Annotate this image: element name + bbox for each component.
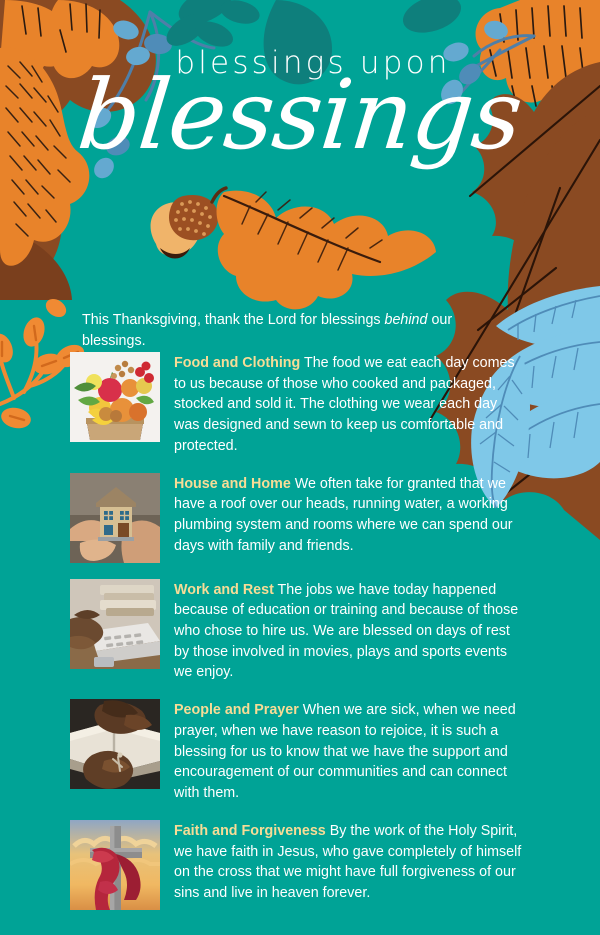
hands-typing-laptop-photo: [70, 579, 160, 669]
list-item-heading: Work and Rest: [174, 582, 274, 598]
list-item: Faith and Forgiveness By the work of the…: [70, 820, 522, 910]
title-script-line: blessings: [0, 71, 600, 159]
list-item-heading: Faith and Forgiveness: [174, 823, 326, 839]
list-item: Work and Rest The jobs we have today hap…: [70, 579, 522, 684]
list-item: People and Prayer When we are sick, when…: [70, 699, 522, 804]
list-item-text: Faith and Forgiveness By the work of the…: [174, 820, 522, 904]
list-item-text: House and Home We often take for granted…: [174, 473, 522, 557]
list-item-text: People and Prayer When we are sick, when…: [174, 699, 522, 804]
groceries-produce-photo: [70, 352, 160, 442]
hands-holding-model-house-photo: [70, 473, 160, 563]
list-item-text: Work and Rest The jobs we have today hap…: [174, 579, 522, 684]
blessings-list: Food and Clothing The food we eat each d…: [70, 352, 522, 926]
list-item-heading: Food and Clothing: [174, 355, 300, 371]
blessings-upon-blessings-poster: blessings upon blessings This Thanksgivi…: [0, 0, 600, 935]
list-item-heading: People and Prayer: [174, 702, 299, 718]
teal-leaf-top-right: [398, 0, 466, 39]
cross-with-red-drape-photo: [70, 820, 160, 910]
poster-title: blessings upon blessings: [0, 48, 600, 159]
praying-hands-bible-photo: [70, 699, 160, 789]
intro-paragraph: This Thanksgiving, thank the Lord for bl…: [82, 310, 502, 351]
list-item-text: Food and Clothing The food we eat each d…: [174, 352, 522, 457]
acorn-center: [151, 188, 226, 259]
intro-text-before: This Thanksgiving, thank the Lord for bl…: [82, 312, 385, 328]
intro-emphasis: behind: [385, 312, 428, 328]
list-item: House and Home We often take for granted…: [70, 473, 522, 563]
list-item-heading: House and Home: [174, 476, 291, 492]
list-item: Food and Clothing The food we eat each d…: [70, 352, 522, 457]
orange-oak-leaf-center: [217, 191, 437, 310]
